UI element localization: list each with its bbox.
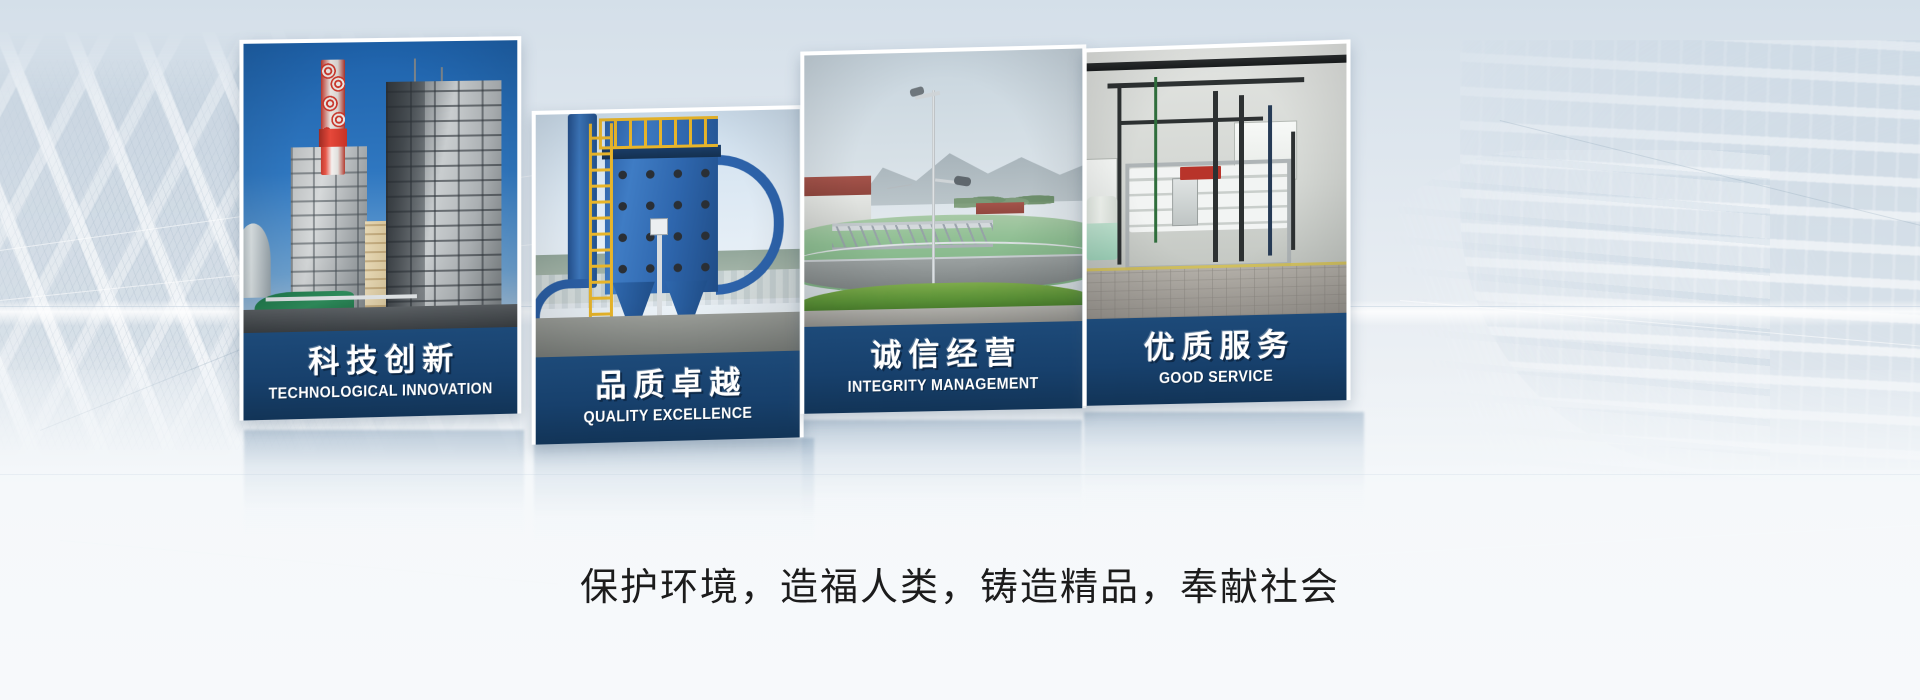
value-panels-row: 科技创新 TECHNOLOGICAL INNOVATION [0,0,1920,560]
panel-integrity-management[interactable]: 诚信经营 INTEGRITY MANAGEMENT [800,44,1086,413]
panel-caption-quality-excellence: 品质卓越 QUALITY EXCELLENCE [536,351,800,445]
panel-caption-integrity-management: 诚信经营 INTEGRITY MANAGEMENT [804,321,1082,413]
panel-good-service[interactable]: 优质服务 GOOD SERVICE [1083,39,1351,405]
panel-photo-integrity-management [804,48,1082,326]
panel-title-en: GOOD SERVICE [1097,366,1336,389]
panel-title-en: QUALITY EXCELLENCE [546,403,789,428]
panel-title-cn: 科技创新 [243,341,517,382]
panel-photo-good-service [1087,44,1347,320]
panel-technological-innovation[interactable]: 科技创新 TECHNOLOGICAL INNOVATION [239,36,521,420]
panel-title-cn: 品质卓越 [536,365,800,407]
panel-caption-technological-innovation: 科技创新 TECHNOLOGICAL INNOVATION [243,327,517,420]
panel-quality-excellence[interactable]: 品质卓越 QUALITY EXCELLENCE [532,105,804,444]
panel-title-en: TECHNOLOGICAL INNOVATION [255,380,507,404]
panel-photo-quality-excellence [536,109,800,357]
panel-photo-technological-innovation [243,40,517,333]
company-slogan: 保护环境，造福人类，铸造精品，奉献社会 [0,556,1920,611]
panel-caption-good-service: 优质服务 GOOD SERVICE [1087,313,1347,406]
panel-title-en: INTEGRITY MANAGEMENT [815,374,1071,397]
company-culture-banner: 科技创新 TECHNOLOGICAL INNOVATION [0,0,1920,700]
panel-title-cn: 诚信经营 [804,335,1082,376]
panel-title-cn: 优质服务 [1087,327,1347,368]
